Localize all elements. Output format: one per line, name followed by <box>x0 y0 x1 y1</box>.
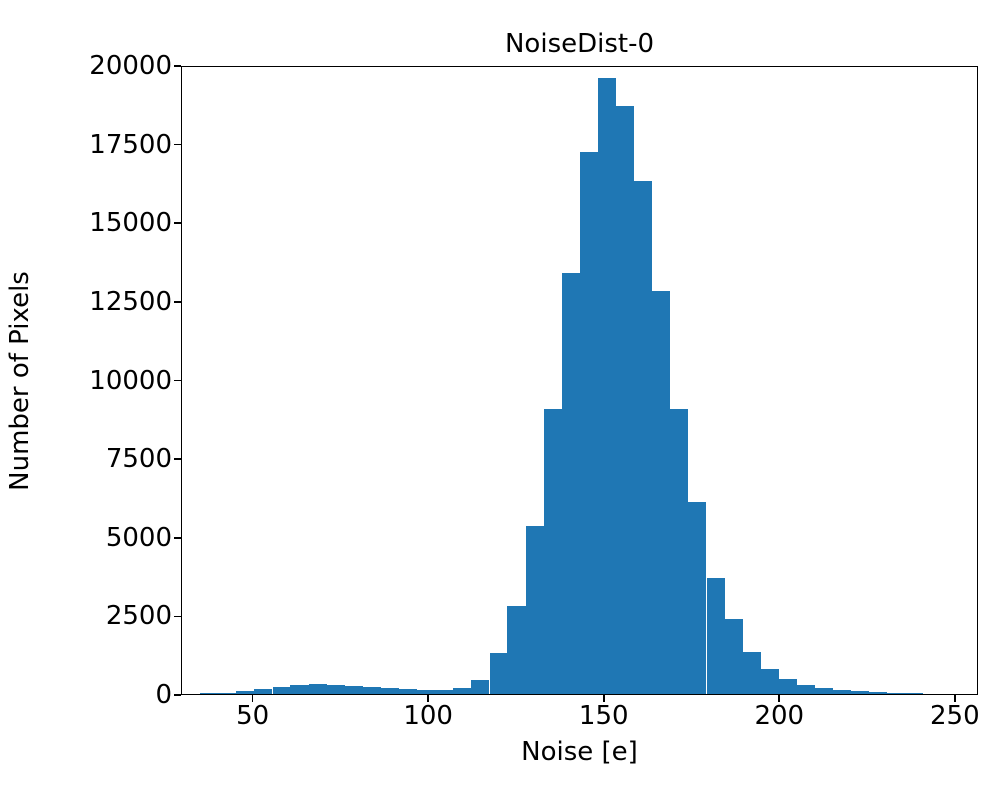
histogram-bar <box>598 78 616 694</box>
histogram-bar <box>779 679 797 694</box>
y-axis-tick-mark <box>174 380 181 382</box>
histogram-bar <box>453 688 471 694</box>
histogram-bar <box>688 502 706 694</box>
y-axis-tick-mark <box>174 537 181 539</box>
x-axis-label: Noise [e] <box>181 737 978 767</box>
x-axis-tick-label: 50 <box>236 703 269 729</box>
y-axis-tick-labels: 02500500075001000012500150001750020000 <box>0 66 172 695</box>
histogram-bar <box>254 689 272 694</box>
x-axis-tick-label: 100 <box>403 703 453 729</box>
histogram-bar <box>616 106 634 694</box>
histogram-bar <box>761 669 779 694</box>
histogram-bar <box>869 692 887 694</box>
chart-title: NoiseDist-0 <box>181 28 978 60</box>
x-axis-tick-label: 200 <box>754 703 804 729</box>
histogram-bar <box>634 181 652 694</box>
histogram-bar <box>670 409 688 694</box>
histogram-bar <box>290 685 308 694</box>
y-axis-tick-label: 2500 <box>9 603 172 629</box>
histogram-bar <box>887 693 905 694</box>
x-axis-tick-labels: 50100150200250 <box>181 703 978 739</box>
y-axis-tick-mark <box>174 301 181 303</box>
histogram-bar <box>417 690 435 694</box>
histogram-bar <box>236 691 254 694</box>
histogram-bar <box>200 693 218 694</box>
histogram-bar <box>833 690 851 694</box>
histogram-bar <box>905 693 923 694</box>
histogram-bar <box>707 578 725 694</box>
y-axis-tick-label: 15000 <box>9 210 172 236</box>
histogram-bar <box>526 526 544 694</box>
histogram-bars <box>182 67 977 694</box>
y-axis-tick-mark <box>174 616 181 618</box>
histogram-bar <box>218 693 236 694</box>
y-axis-tick-mark <box>174 458 181 460</box>
y-axis-tick-label: 0 <box>9 682 172 708</box>
histogram-bar <box>724 619 742 694</box>
histogram-bar <box>345 686 363 694</box>
y-axis-tick-mark <box>174 65 181 67</box>
y-axis-tick-label: 20000 <box>9 53 172 79</box>
x-axis-tick-label: 250 <box>930 703 980 729</box>
histogram-bar <box>327 685 345 694</box>
histogram-bar <box>507 606 525 694</box>
histogram-bar <box>399 689 417 694</box>
x-axis-tick-label: 150 <box>579 703 629 729</box>
histogram-bar <box>580 152 598 695</box>
histogram-bar <box>544 409 562 694</box>
histogram-bar <box>562 273 580 694</box>
histogram-bar <box>490 653 508 694</box>
histogram-bar <box>381 688 399 694</box>
y-axis-tick-mark <box>174 694 181 696</box>
histogram-bar <box>363 687 381 694</box>
histogram-bar <box>273 687 291 694</box>
histogram-bar <box>309 684 327 694</box>
histogram-bar <box>815 688 833 694</box>
y-axis-tick-label: 7500 <box>9 446 172 472</box>
plot-area <box>181 66 978 695</box>
histogram-bar <box>743 652 761 694</box>
histogram-bar <box>435 690 453 694</box>
histogram-bar <box>797 685 815 694</box>
y-axis-tick-label: 17500 <box>9 132 172 158</box>
histogram-bar <box>471 680 489 694</box>
histogram-bar <box>851 691 869 694</box>
chart-figure: NoiseDist-0 Number of Pixels 02500500075… <box>0 0 1000 800</box>
histogram-bar <box>652 291 670 694</box>
y-axis-tick-mark <box>174 222 181 224</box>
y-axis-tick-label: 12500 <box>9 289 172 315</box>
y-axis-tick-label: 10000 <box>9 368 172 394</box>
y-axis-tick-label: 5000 <box>9 525 172 551</box>
y-axis-tick-mark <box>174 144 181 146</box>
